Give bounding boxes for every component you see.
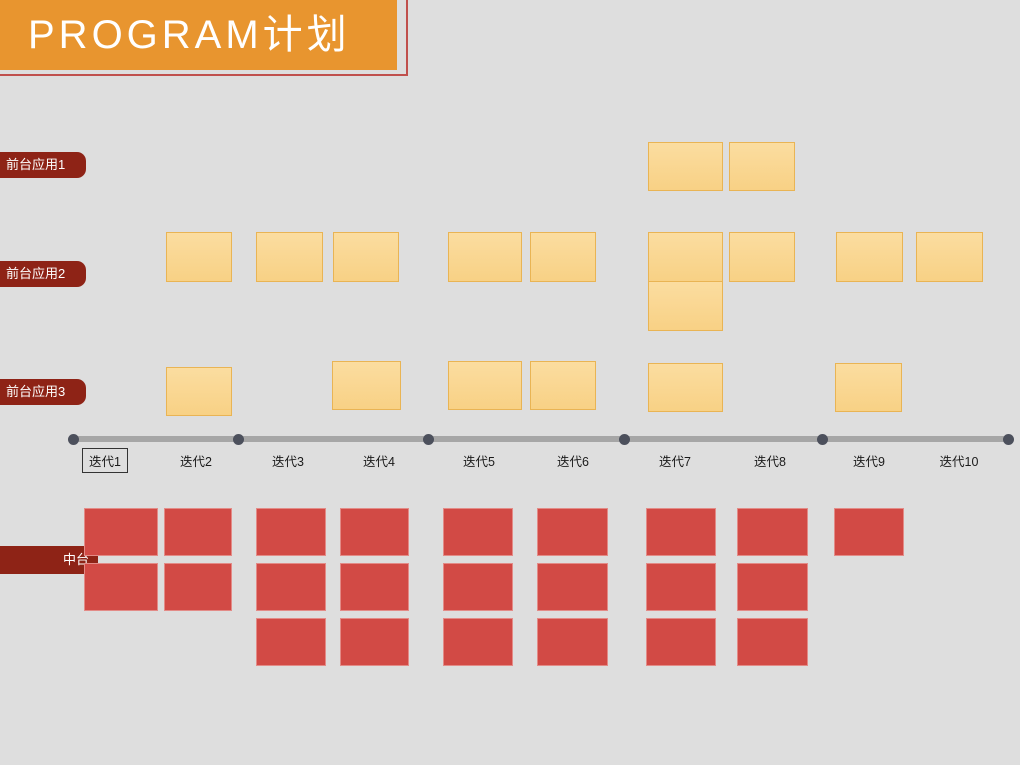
middle-platform-card[interactable] (443, 508, 513, 556)
middle-platform-card[interactable] (256, 508, 326, 556)
timeline-label-iteration-8[interactable]: 迭代8 (730, 451, 810, 470)
frontend-app-card[interactable] (448, 232, 522, 282)
frontend-app-card[interactable] (332, 361, 401, 410)
timeline-milestone-dot[interactable] (1003, 434, 1014, 445)
frontend-app-card[interactable] (448, 361, 522, 410)
frontend-app-card[interactable] (333, 232, 399, 282)
middle-platform-card[interactable] (737, 563, 808, 611)
frontend-app-card[interactable] (648, 232, 723, 282)
timeline-label-iteration-3[interactable]: 迭代3 (248, 451, 328, 470)
timeline-label-iteration-9[interactable]: 迭代9 (829, 451, 909, 470)
middle-platform-card[interactable] (340, 508, 409, 556)
timeline-milestone-dot[interactable] (233, 434, 244, 445)
middle-platform-card[interactable] (646, 508, 716, 556)
frontend-app-card[interactable] (916, 232, 983, 282)
iteration-timeline[interactable] (70, 434, 1010, 444)
middle-platform-card[interactable] (164, 508, 232, 556)
frontend-app-card[interactable] (729, 142, 795, 191)
middle-platform-card[interactable] (737, 508, 808, 556)
frontend-app-card[interactable] (729, 232, 795, 282)
row-label-frontend-app-3: 前台应用3 (0, 379, 86, 405)
timeline-milestone-dot[interactable] (619, 434, 630, 445)
row-label-frontend-app-1: 前台应用1 (0, 152, 86, 178)
page-title: PROGRAM计划 (0, 15, 351, 55)
timeline-label-iteration-5[interactable]: 迭代5 (439, 451, 519, 470)
middle-platform-card[interactable] (646, 618, 716, 666)
timeline-milestone-dot[interactable] (817, 434, 828, 445)
frontend-app-card[interactable] (166, 367, 232, 416)
frontend-app-card[interactable] (256, 232, 323, 282)
middle-platform-card[interactable] (84, 563, 158, 611)
timeline-label-iteration-2[interactable]: 迭代2 (156, 451, 236, 470)
timeline-label-iteration-1[interactable]: 迭代1 (82, 448, 128, 473)
middle-platform-card[interactable] (737, 618, 808, 666)
middle-platform-card[interactable] (340, 563, 409, 611)
frontend-app-card[interactable] (530, 232, 596, 282)
middle-platform-card[interactable] (164, 563, 232, 611)
middle-platform-card[interactable] (443, 563, 513, 611)
timeline-label-iteration-7[interactable]: 迭代7 (635, 451, 715, 470)
timeline-label-iteration-6[interactable]: 迭代6 (533, 451, 613, 470)
frontend-app-card[interactable] (835, 363, 902, 412)
timeline-milestone-dot[interactable] (423, 434, 434, 445)
title-banner: PROGRAM计划 (0, 0, 397, 70)
row-label-frontend-app-2: 前台应用2 (0, 261, 86, 287)
middle-platform-card[interactable] (84, 508, 158, 556)
timeline-label-iteration-4[interactable]: 迭代4 (339, 451, 419, 470)
frontend-app-card[interactable] (836, 232, 903, 282)
timeline-milestone-dot[interactable] (68, 434, 79, 445)
middle-platform-card[interactable] (537, 563, 608, 611)
middle-platform-card[interactable] (537, 618, 608, 666)
title-frame: PROGRAM计划 (0, 0, 408, 76)
frontend-app-card[interactable] (166, 232, 232, 282)
frontend-app-card[interactable] (530, 361, 596, 410)
middle-platform-card[interactable] (443, 618, 513, 666)
frontend-app-card[interactable] (648, 142, 723, 191)
timeline-bar (70, 436, 1010, 442)
frontend-app-card[interactable] (648, 363, 723, 412)
middle-platform-card[interactable] (537, 508, 608, 556)
middle-platform-card[interactable] (256, 618, 326, 666)
middle-platform-card[interactable] (340, 618, 409, 666)
middle-platform-card[interactable] (256, 563, 326, 611)
frontend-app-card[interactable] (648, 281, 723, 331)
timeline-label-iteration-10[interactable]: 迭代10 (919, 451, 999, 470)
middle-platform-card[interactable] (834, 508, 904, 556)
middle-platform-card[interactable] (646, 563, 716, 611)
